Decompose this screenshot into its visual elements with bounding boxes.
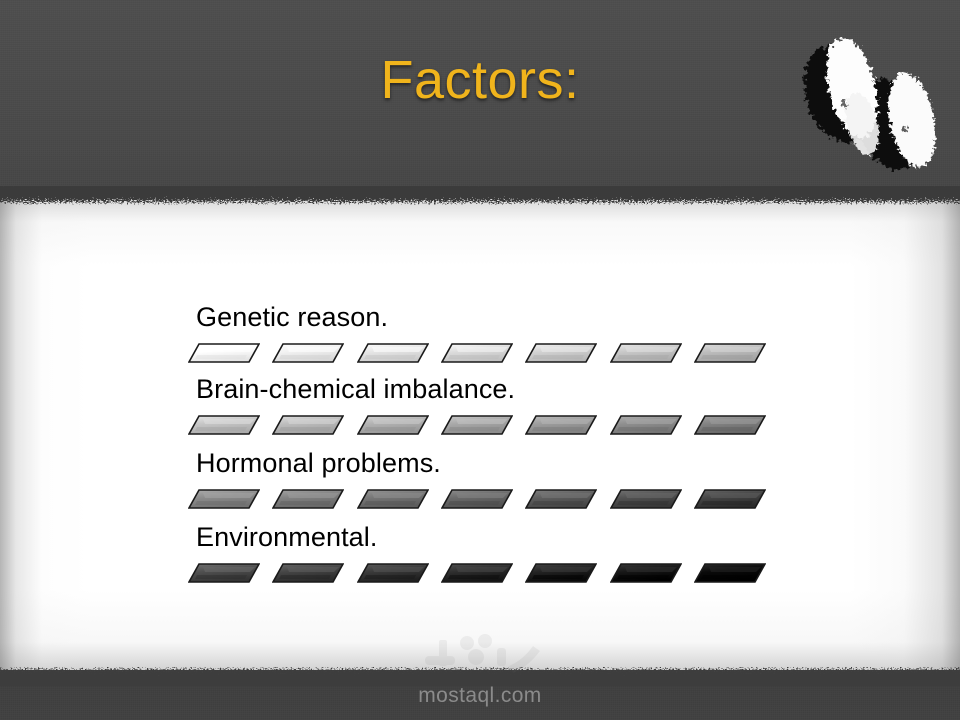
bullet-item-3: Hormonal problems. — [196, 448, 441, 479]
divider-tile — [188, 563, 260, 583]
divider-row-3 — [188, 488, 766, 510]
divider-tile — [525, 563, 597, 583]
divider-tile — [357, 415, 429, 435]
divider-tile — [441, 563, 513, 583]
bullet-item-2: Brain-chemical imbalance. — [196, 374, 515, 405]
divider-tile — [272, 489, 344, 509]
divider-tile — [694, 415, 766, 435]
divider-tile — [441, 489, 513, 509]
divider-tile — [188, 343, 260, 363]
divider-tile — [272, 563, 344, 583]
divider-tile — [525, 343, 597, 363]
divider-tile — [357, 563, 429, 583]
divider-tile — [188, 489, 260, 509]
divider-row-1 — [188, 342, 766, 364]
divider-tile — [525, 489, 597, 509]
bullet-item-1: Genetic reason. — [196, 302, 388, 333]
bullet-list: Genetic reason. Brain-chemical imbalance… — [0, 196, 960, 670]
divider-row-4 — [188, 562, 766, 584]
watermark-text: mostaql.com — [0, 684, 960, 708]
bullet-item-4: Environmental. — [196, 522, 378, 553]
divider-tile — [188, 415, 260, 435]
divider-tile — [272, 343, 344, 363]
divider-tile — [694, 563, 766, 583]
slide-canvas: Factors: — [0, 0, 960, 720]
divider-tile — [525, 415, 597, 435]
divider-row-2 — [188, 414, 766, 436]
divider-tile — [441, 343, 513, 363]
divider-tile — [441, 415, 513, 435]
divider-tile — [357, 343, 429, 363]
divider-tile — [610, 343, 682, 363]
divider-tile — [694, 489, 766, 509]
divider-tile — [610, 563, 682, 583]
slide-title: Factors: — [0, 52, 960, 109]
divider-tile — [357, 489, 429, 509]
divider-tile — [610, 489, 682, 509]
divider-tile — [694, 343, 766, 363]
divider-tile — [272, 415, 344, 435]
divider-tile — [610, 415, 682, 435]
